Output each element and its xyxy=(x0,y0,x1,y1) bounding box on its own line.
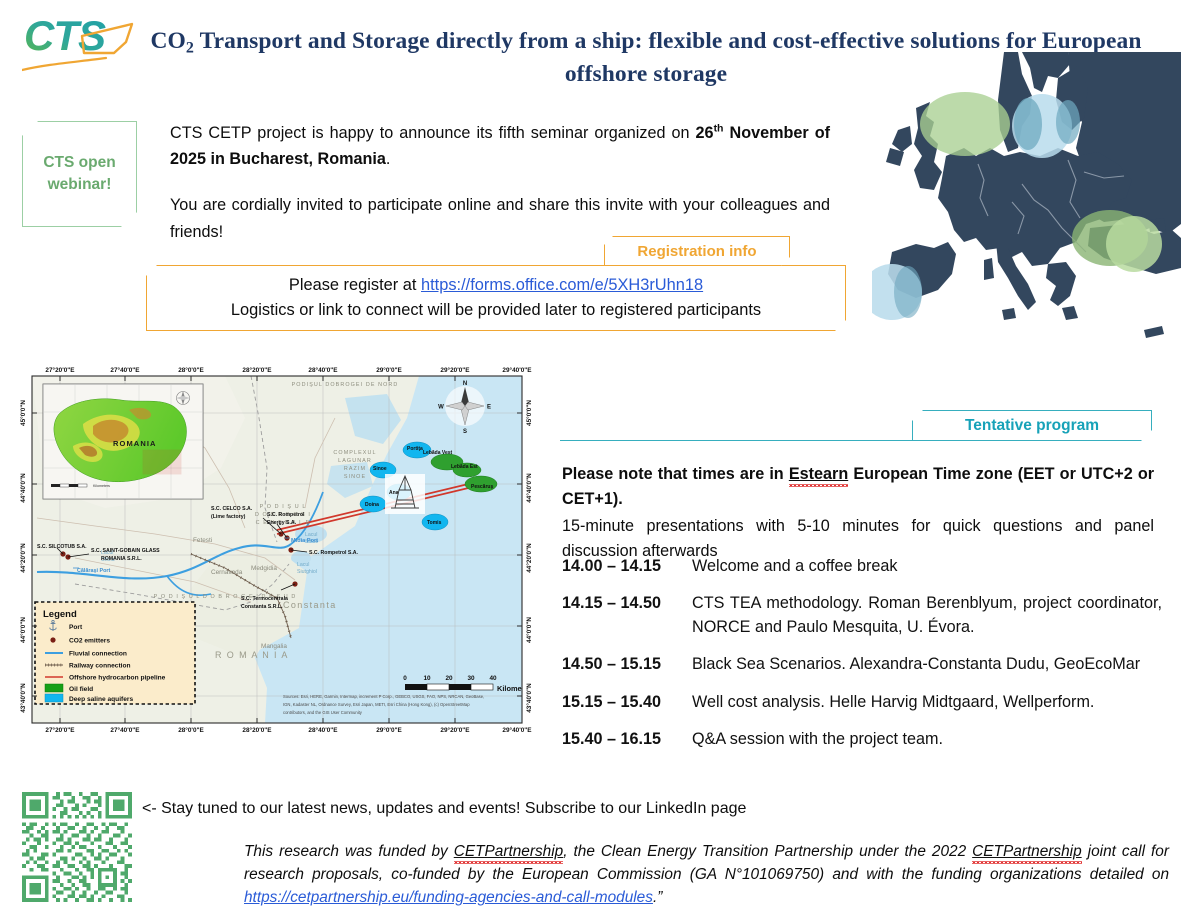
svg-text:E: E xyxy=(487,404,491,410)
svg-text:S.C. Rompetrol: S.C. Rompetrol xyxy=(267,512,305,518)
svg-text:44°40'0"N: 44°40'0"N xyxy=(525,473,533,503)
svg-text:PODIŞUL DOBROGEI DE NORD: PODIŞUL DOBROGEI DE NORD xyxy=(292,382,399,388)
schedule-row: 14.15 – 14.50 CTS TEA methodology. Roman… xyxy=(562,592,1162,639)
svg-text:Siutghiol: Siutghiol xyxy=(297,569,317,575)
svg-text:43°40'0"N: 43°40'0"N xyxy=(19,683,27,713)
svg-text:20: 20 xyxy=(445,675,453,682)
registration-info-tab: Registration info xyxy=(604,236,790,266)
svg-text:Fetesti: Fetesti xyxy=(193,537,212,544)
schedule-row: 15.15 – 15.40 Well cost analysis. Helle … xyxy=(562,691,1162,714)
svg-text:Mangalia: Mangalia xyxy=(261,643,287,650)
intro-text-block: CTS CETP project is happy to announce it… xyxy=(170,120,830,245)
program-note: Please note that times are in Estearn Eu… xyxy=(562,462,1154,564)
svg-text:ROMANIA: ROMANIA xyxy=(113,439,157,448)
program-rule xyxy=(560,440,915,441)
cetpartnership-link[interactable]: https://cetpartnership.eu/funding-agenci… xyxy=(244,889,653,906)
schedule-time: 15.40 – 16.15 xyxy=(562,728,684,751)
cts-logo: CTS xyxy=(22,6,150,78)
svg-text:Offshore hydrocarbon pipeline: Offshore hydrocarbon pipeline xyxy=(69,675,166,682)
svg-text:27°20'0"E: 27°20'0"E xyxy=(45,726,75,734)
svg-text:S.C. Termocentrala: S.C. Termocentrala xyxy=(241,596,288,602)
webinar-badge: CTS open webinar! xyxy=(22,121,137,227)
svg-text:Oil field: Oil field xyxy=(69,686,93,693)
svg-text:Portiţa: Portiţa xyxy=(407,446,423,452)
svg-text:45°0'0"N: 45°0'0"N xyxy=(19,400,27,426)
program-note-misspelling: Estearn xyxy=(789,465,848,483)
svg-text:28°40'0"E: 28°40'0"E xyxy=(308,366,338,374)
svg-text:29°20'0"E: 29°20'0"E xyxy=(440,726,470,734)
funding-b: , the Clean Energy Transition Partnershi… xyxy=(563,843,972,860)
svg-text:Fluvial connection: Fluvial connection xyxy=(69,651,127,658)
schedule-description: Q&A session with the project team. xyxy=(684,728,1162,751)
svg-text:30: 30 xyxy=(467,675,475,682)
intro-p1-a: CTS CETP project is happy to announce it… xyxy=(170,124,696,142)
svg-text:29°40'0"E: 29°40'0"E xyxy=(502,366,532,374)
svg-text:Cernavoda: Cernavoda xyxy=(211,569,243,576)
svg-text:COMPLEXUL: COMPLEXUL xyxy=(333,450,376,456)
title-subscript: 2 xyxy=(186,39,194,56)
svg-text:Railway connection: Railway connection xyxy=(69,663,131,670)
schedule-row: 14.50 – 15.15 Black Sea Scenarios. Alexa… xyxy=(562,653,1162,676)
svg-text:Kilometers: Kilometers xyxy=(93,484,110,488)
svg-text:S.C. SAINT-GOBAIN GLASS: S.C. SAINT-GOBAIN GLASS xyxy=(91,548,160,554)
svg-text:44°0'0"N: 44°0'0"N xyxy=(19,617,27,643)
registration-line-1: Please register at https://forms.office.… xyxy=(289,273,703,298)
svg-text:45°0'0"N: 45°0'0"N xyxy=(525,400,533,426)
svg-text:S: S xyxy=(463,429,467,435)
program-tab-label: Tentative program xyxy=(965,417,1099,435)
registration-link[interactable]: https://forms.office.com/e/5XH3rUhn18 xyxy=(421,276,703,294)
svg-text:CO2 emitters: CO2 emitters xyxy=(69,638,110,645)
svg-text:Constanta S.R.L.: Constanta S.R.L. xyxy=(241,604,283,610)
svg-text:R O M A N I A: R O M A N I A xyxy=(215,650,289,660)
registration-prefix: Please register at xyxy=(289,276,421,294)
webinar-badge-label: CTS open webinar! xyxy=(23,152,136,197)
svg-text:44°0'0"N: 44°0'0"N xyxy=(525,617,533,643)
svg-text:S.C. Rompetrol S.A.: S.C. Rompetrol S.A. xyxy=(309,550,359,556)
svg-text:29°20'0"E: 29°20'0"E xyxy=(440,366,470,374)
svg-text:Constanta: Constanta xyxy=(283,600,337,610)
svg-text:contributors, and the GIS User: contributors, and the GIS User Community xyxy=(283,710,363,715)
program-schedule: 14.00 – 14.15 Welcome and a coffee break… xyxy=(562,555,1162,766)
svg-text:RAZIM: RAZIM xyxy=(344,466,366,472)
funding-org-1: CETPartnership xyxy=(454,843,564,860)
svg-text:(Lime factory): (Lime factory) xyxy=(211,514,246,520)
schedule-description: Well cost analysis. Helle Harvig Midtgaa… xyxy=(684,691,1162,714)
title-prefix: CO xyxy=(150,28,185,54)
svg-text:S.C. CELCO S.A.: S.C. CELCO S.A. xyxy=(211,506,253,512)
schedule-description: Black Sea Scenarios. Alexandra-Constanta… xyxy=(684,653,1162,676)
svg-text:44°20'0"N: 44°20'0"N xyxy=(19,543,27,573)
svg-text:Doina: Doina xyxy=(365,502,379,508)
svg-text:29°0'0"E: 29°0'0"E xyxy=(376,726,402,734)
funding-a: This research was funded by xyxy=(244,843,454,860)
svg-text:Medgidia: Medgidia xyxy=(251,565,277,572)
svg-text:10: 10 xyxy=(423,675,431,682)
svg-text:28°0'0"E: 28°0'0"E xyxy=(178,366,204,374)
registration-box: Please register at https://forms.office.… xyxy=(146,265,846,331)
registration-tab-label: Registration info xyxy=(637,243,756,260)
svg-text:Lacul: Lacul xyxy=(297,562,309,568)
black-sea-map-figure: 27°20'0"E 27°40'0"E 28°0'0"E 28°20'0"E 2… xyxy=(15,358,540,738)
map-legend: Legend Port CO2 emitters Fluvial connect… xyxy=(35,602,195,704)
svg-text:S.C. SILCOTUB S.A.: S.C. SILCOTUB S.A. xyxy=(37,544,87,550)
intro-ordinal: th xyxy=(714,123,724,135)
svg-text:IGN, Kadaster NL, Ordnance Sur: IGN, Kadaster NL, Ordnance Survey, Esri … xyxy=(283,702,470,707)
svg-text:W: W xyxy=(438,404,444,410)
svg-text:28°20'0"E: 28°20'0"E xyxy=(242,366,272,374)
schedule-time: 14.50 – 15.15 xyxy=(562,653,684,676)
svg-text:0: 0 xyxy=(403,675,407,682)
funding-org-2: CETPartnership xyxy=(972,843,1082,860)
schedule-row: 15.40 – 16.15 Q&A session with the proje… xyxy=(562,728,1162,751)
intro-p1-end: . xyxy=(386,150,391,168)
svg-text:40: 40 xyxy=(489,675,497,682)
svg-text:P O D I Ş U L: P O D I Ş U L xyxy=(260,504,307,510)
linkedin-callout: <- Stay tuned to our latest news, update… xyxy=(142,800,882,818)
svg-text:SINOE: SINOE xyxy=(344,474,366,480)
svg-text:Sources: Esri, HERE, Garmin, I: Sources: Esri, HERE, Garmin, Intermap, i… xyxy=(283,694,484,699)
svg-text:Port: Port xyxy=(69,624,83,631)
svg-text:27°20'0"E: 27°20'0"E xyxy=(45,366,75,374)
registration-line-2: Logistics or link to connect will be pro… xyxy=(231,298,761,323)
svg-text:Lebăda Est: Lebăda Est xyxy=(451,464,478,470)
svg-text:29°0'0"E: 29°0'0"E xyxy=(376,366,402,374)
svg-text:28°40'0"E: 28°40'0"E xyxy=(308,726,338,734)
svg-text:29°40'0"E: 29°40'0"E xyxy=(502,726,532,734)
schedule-description: Welcome and a coffee break xyxy=(684,555,1162,578)
svg-text:Deep saline aquifers: Deep saline aquifers xyxy=(69,696,133,703)
svg-text:Călăraşi Port: Călăraşi Port xyxy=(77,568,110,574)
svg-text:Energy S.A.: Energy S.A. xyxy=(267,520,297,526)
svg-text:28°0'0"E: 28°0'0"E xyxy=(178,726,204,734)
svg-text:Ana: Ana xyxy=(389,490,399,496)
schedule-time: 14.15 – 14.50 xyxy=(562,592,684,639)
intro-day: 26 xyxy=(696,124,714,142)
svg-text:Lebăda Vest: Lebăda Vest xyxy=(423,450,453,456)
schedule-time: 15.15 – 15.40 xyxy=(562,691,684,714)
funding-acknowledgement: This research was funded by CETPartnersh… xyxy=(244,840,1169,909)
svg-text:44°40'0"N: 44°40'0"N xyxy=(19,473,27,503)
svg-text:43°40'0"N: 43°40'0"N xyxy=(525,683,533,713)
schedule-time: 14.00 – 14.15 xyxy=(562,555,684,578)
schedule-description: CTS TEA methodology. Roman Berenblyum, p… xyxy=(684,592,1162,639)
program-note-bold: Please note that times are in Estearn Eu… xyxy=(562,462,1154,512)
svg-text:27°40'0"E: 27°40'0"E xyxy=(110,366,140,374)
svg-text:Sinoe: Sinoe xyxy=(373,466,387,472)
schedule-row: 14.00 – 14.15 Welcome and a coffee break xyxy=(562,555,1162,578)
funding-end: .” xyxy=(653,889,662,906)
intro-paragraph-1: CTS CETP project is happy to announce it… xyxy=(170,120,830,172)
svg-text:ROMANIA S.R.L.: ROMANIA S.R.L. xyxy=(101,556,142,562)
program-note-a: Please note that times are in xyxy=(562,465,789,483)
svg-text:LAGUNAR: LAGUNAR xyxy=(338,458,372,464)
svg-text:Legend: Legend xyxy=(43,609,77,620)
svg-text:Tomis: Tomis xyxy=(427,520,442,526)
svg-text:27°40'0"E: 27°40'0"E xyxy=(110,726,140,734)
tentative-program-tab: Tentative program xyxy=(912,410,1152,441)
qr-code-linkedin[interactable] xyxy=(22,792,132,902)
svg-text:Midia Port: Midia Port xyxy=(291,538,318,544)
svg-text:44°20'0"N: 44°20'0"N xyxy=(525,543,533,573)
svg-text:Pescăruş: Pescăruş xyxy=(471,484,493,490)
svg-text:28°20'0"E: 28°20'0"E xyxy=(242,726,272,734)
europe-map-graphic xyxy=(872,52,1181,350)
svg-text:N: N xyxy=(463,381,467,387)
